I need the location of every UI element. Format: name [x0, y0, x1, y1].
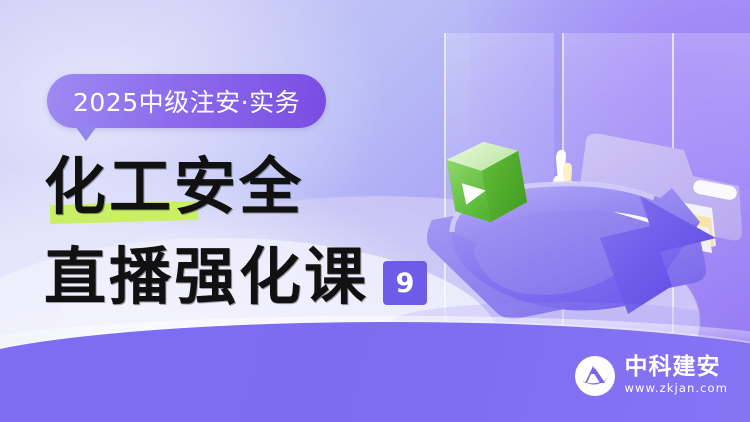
badge-label: 2025中级注安·实务 — [73, 83, 300, 119]
brand-name: 中科建安 — [624, 355, 728, 380]
course-promo-banner: 2025中级注安·实务 化工安全 直播强化课 9 中科建安 www.zkjan.… — [0, 0, 750, 422]
course-category-badge: 2025中级注安·实务 — [47, 74, 326, 128]
background-panel-1 — [444, 33, 554, 333]
headline-line-1-row: 化工安全 — [44, 148, 427, 226]
logo-text-block: 中科建安 www.zkjan.com — [624, 355, 728, 396]
background-panel-3 — [672, 33, 750, 333]
badge-tail-icon — [75, 126, 97, 141]
zkjan-monogram-icon — [575, 356, 615, 396]
headline-line-2-row: 直播强化课 9 — [44, 238, 427, 316]
episode-number-badge: 9 — [383, 261, 427, 305]
headline-line-1: 化工安全 — [44, 148, 304, 226]
brand-url: www.zkjan.com — [624, 381, 728, 396]
badge-pill: 2025中级注安·实务 — [47, 74, 326, 128]
brand-logo: 中科建安 www.zkjan.com — [575, 355, 728, 396]
headline-block: 化工安全 直播强化课 9 — [44, 148, 427, 316]
headline-line-2: 直播强化课 — [44, 238, 369, 316]
background-panel-2 — [562, 33, 674, 333]
episode-number: 9 — [396, 270, 415, 297]
